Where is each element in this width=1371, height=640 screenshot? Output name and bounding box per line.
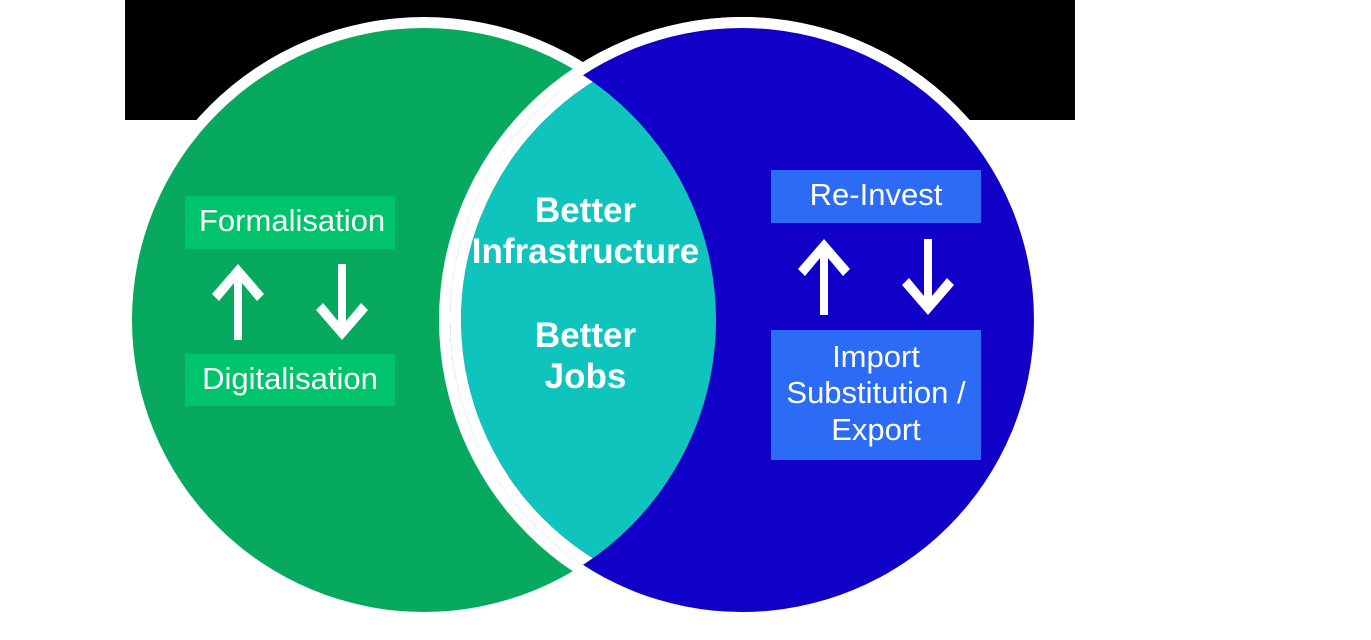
better-jobs-label: Better Jobs bbox=[535, 315, 636, 398]
lens-content: Better Infrastructure Better Jobs bbox=[452, 190, 719, 397]
digitalisation-box[interactable]: Digitalisation bbox=[185, 354, 395, 407]
formalisation-box[interactable]: Formalisation bbox=[185, 196, 395, 249]
blue-arrow-pair bbox=[794, 236, 958, 318]
venn-diagram-canvas: Formalisation Digitalisation Better Infr… bbox=[0, 0, 1371, 640]
arrow-up-icon bbox=[208, 261, 268, 343]
import-substitution-export-box[interactable]: Import Substitution / Export bbox=[771, 330, 981, 461]
better-infrastructure-label: Better Infrastructure bbox=[472, 190, 700, 273]
arrow-down-icon bbox=[312, 261, 372, 343]
green-circle-content: Formalisation Digitalisation bbox=[131, 196, 449, 406]
green-arrow-pair bbox=[208, 261, 372, 343]
arrow-down-icon bbox=[898, 236, 958, 318]
arrow-up-icon bbox=[794, 236, 854, 318]
blue-circle-content: Re-Invest Import Substitution / Export bbox=[717, 170, 1035, 460]
re-invest-box[interactable]: Re-Invest bbox=[771, 170, 981, 223]
